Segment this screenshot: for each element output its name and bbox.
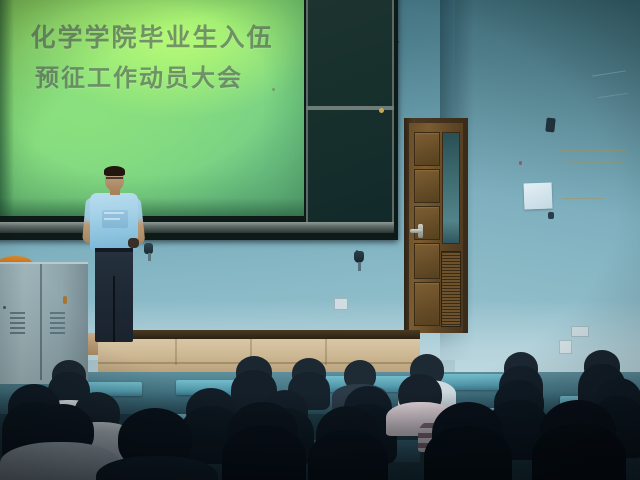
student-hair [222, 426, 306, 480]
audience-area [0, 330, 640, 480]
wall-scuff [566, 162, 624, 163]
wall-mark [548, 212, 554, 219]
door-panel [414, 243, 440, 279]
door-vent-louvers [441, 251, 461, 327]
blackboard-frame: 化学学院毕业生入伍 预征工作动员大会 [0, 0, 398, 240]
door-glass-pane [442, 132, 460, 244]
student-hair [308, 430, 388, 480]
presenter-hand-with-clicker [128, 238, 139, 248]
cabinet-hole [3, 306, 6, 309]
wall-speaker-bracket [358, 262, 361, 271]
door-panel [414, 132, 440, 166]
presenter-belt [95, 248, 133, 252]
photo-scene: 化学学院毕业生入伍 预征工作动员大会 [0, 0, 640, 480]
wall-scuff [560, 150, 626, 151]
presenter-hair [104, 166, 125, 176]
wall-mark [519, 161, 522, 165]
wall-mark [356, 250, 358, 252]
door-panel [414, 282, 440, 326]
chalk-rail [0, 222, 394, 233]
blackboard-panel [306, 0, 394, 228]
presenter [82, 168, 144, 346]
wall-notice-paper [524, 183, 553, 210]
wall-mark [545, 118, 555, 133]
wall-speaker-bracket [148, 253, 151, 261]
classroom-door[interactable] [409, 123, 463, 333]
student-hair [532, 424, 626, 480]
wall-scuff [562, 198, 604, 199]
screen-vignette [0, 0, 304, 216]
blackboard-knob [379, 108, 384, 113]
door-handle-lever[interactable] [410, 229, 422, 233]
presenter-shirt-print-line [104, 212, 124, 214]
light-switch[interactable] [334, 298, 348, 310]
cabinet-lock[interactable] [63, 296, 67, 304]
student-hair [424, 426, 512, 480]
door-panel [414, 169, 440, 203]
glasses-icon [106, 177, 123, 183]
presenter-shirt-print-line [104, 218, 120, 220]
projection-screen: 化学学院毕业生入伍 预征工作动员大会 [0, 0, 304, 216]
